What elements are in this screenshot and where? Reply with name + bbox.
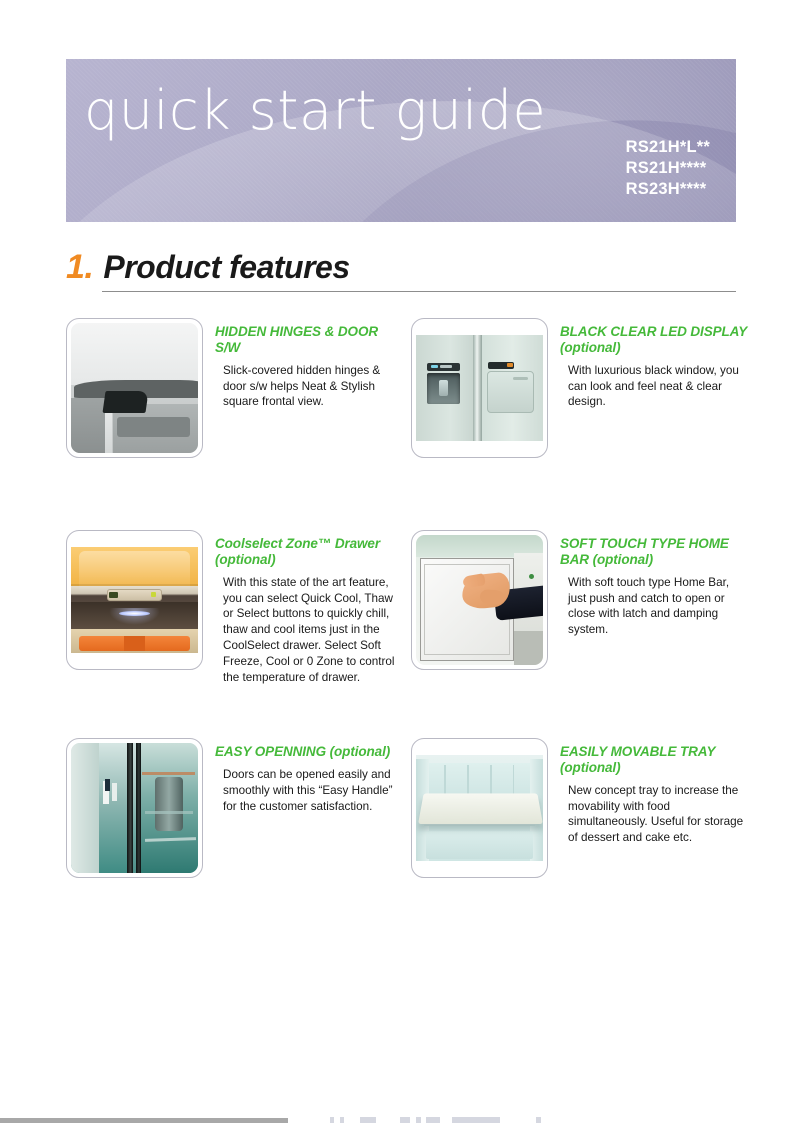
footer-text-fragment bbox=[416, 1117, 421, 1123]
footer-text-fragment bbox=[452, 1117, 500, 1123]
feature-item-easy-openning: EASY OPENNING (optional) Doors can be op… bbox=[66, 738, 411, 898]
footer-text-fragment bbox=[426, 1117, 440, 1123]
feature-text: HIDDEN HINGES & DOOR S/W Slick-covered h… bbox=[203, 318, 405, 410]
feature-text: EASY OPENNING (optional) Doors can be op… bbox=[203, 738, 405, 814]
feature-title: SOFT TOUCH TYPE HOME BAR (optional) bbox=[560, 536, 750, 568]
quick-start-guide-banner: quick start guide RS21H*L** RS21H**** RS… bbox=[66, 59, 736, 222]
feature-row: EASY OPENNING (optional) Doors can be op… bbox=[66, 738, 756, 898]
page-title: Product features bbox=[103, 249, 349, 286]
easy-openning-photo-inner bbox=[71, 743, 198, 873]
feature-body: With this state of the art feature, you … bbox=[223, 575, 405, 686]
model-number-1: RS21H*L** bbox=[626, 137, 710, 158]
feature-body: Doors can be opened easily and smoothly … bbox=[223, 767, 405, 814]
section-heading-row: 1. Product features bbox=[66, 248, 736, 291]
feature-title: BLACK CLEAR LED DISPLAY (optional) bbox=[560, 324, 750, 356]
footer-text-fragment bbox=[536, 1117, 541, 1123]
footer-rule bbox=[0, 1118, 288, 1123]
model-number-3: RS23H**** bbox=[626, 179, 710, 200]
soft-touch-home-bar-photo bbox=[411, 530, 548, 670]
easy-openning-photo bbox=[66, 738, 203, 878]
footer-text-fragment bbox=[340, 1117, 344, 1123]
page-footer-clipped bbox=[0, 1116, 802, 1125]
feature-body: With soft touch type Home Bar, just push… bbox=[568, 575, 750, 638]
feature-item-soft-touch-home-bar: SOFT TOUCH TYPE HOME BAR (optional) With… bbox=[411, 530, 756, 738]
feature-item-black-clear-led-display: BLACK CLEAR LED DISPLAY (optional) With … bbox=[411, 318, 756, 530]
easily-movable-tray-photo-inner bbox=[416, 755, 543, 861]
feature-title: HIDDEN HINGES & DOOR S/W bbox=[215, 324, 405, 356]
coolselect-zone-drawer-photo-inner bbox=[71, 547, 198, 653]
feature-item-easily-movable-tray: EASILY MOVABLE TRAY (optional) New conce… bbox=[411, 738, 756, 898]
section-divider bbox=[102, 291, 736, 292]
black-clear-led-display-photo bbox=[411, 318, 548, 458]
hidden-hinges-photo bbox=[66, 318, 203, 458]
coolselect-zone-drawer-photo bbox=[66, 530, 203, 670]
banner-model-numbers: RS21H*L** RS21H**** RS23H**** bbox=[626, 137, 710, 200]
section-number: 1. bbox=[66, 248, 93, 287]
product-features-grid: HIDDEN HINGES & DOOR S/W Slick-covered h… bbox=[66, 318, 756, 898]
soft-touch-home-bar-photo-inner bbox=[416, 535, 543, 665]
feature-text: BLACK CLEAR LED DISPLAY (optional) With … bbox=[548, 318, 750, 410]
feature-text: EASILY MOVABLE TRAY (optional) New conce… bbox=[548, 738, 750, 846]
banner-title: quick start guide bbox=[84, 77, 546, 145]
model-number-2: RS21H**** bbox=[626, 158, 710, 179]
feature-body: New concept tray to increase the movabil… bbox=[568, 783, 750, 846]
feature-body: With luxurious black window, you can loo… bbox=[568, 363, 750, 410]
footer-text-fragment bbox=[400, 1117, 410, 1123]
black-clear-led-display-photo-inner bbox=[416, 335, 543, 441]
feature-text: Coolselect Zone™ Drawer (optional) With … bbox=[203, 530, 405, 685]
feature-row: Coolselect Zone™ Drawer (optional) With … bbox=[66, 530, 756, 738]
footer-text-fragment bbox=[330, 1117, 334, 1123]
hidden-hinges-photo-inner bbox=[71, 323, 198, 453]
footer-text-fragment bbox=[360, 1117, 376, 1123]
feature-body: Slick-covered hidden hinges & door s/w h… bbox=[223, 363, 405, 410]
feature-text: SOFT TOUCH TYPE HOME BAR (optional) With… bbox=[548, 530, 750, 638]
feature-item-hidden-hinges: HIDDEN HINGES & DOOR S/W Slick-covered h… bbox=[66, 318, 411, 530]
feature-title: EASILY MOVABLE TRAY (optional) bbox=[560, 744, 750, 776]
feature-title: EASY OPENNING (optional) bbox=[215, 744, 405, 760]
feature-title: Coolselect Zone™ Drawer (optional) bbox=[215, 536, 405, 568]
easily-movable-tray-photo bbox=[411, 738, 548, 878]
section-heading: 1. Product features bbox=[66, 248, 736, 292]
feature-row: HIDDEN HINGES & DOOR S/W Slick-covered h… bbox=[66, 318, 756, 530]
feature-item-coolselect-zone-drawer: Coolselect Zone™ Drawer (optional) With … bbox=[66, 530, 411, 738]
